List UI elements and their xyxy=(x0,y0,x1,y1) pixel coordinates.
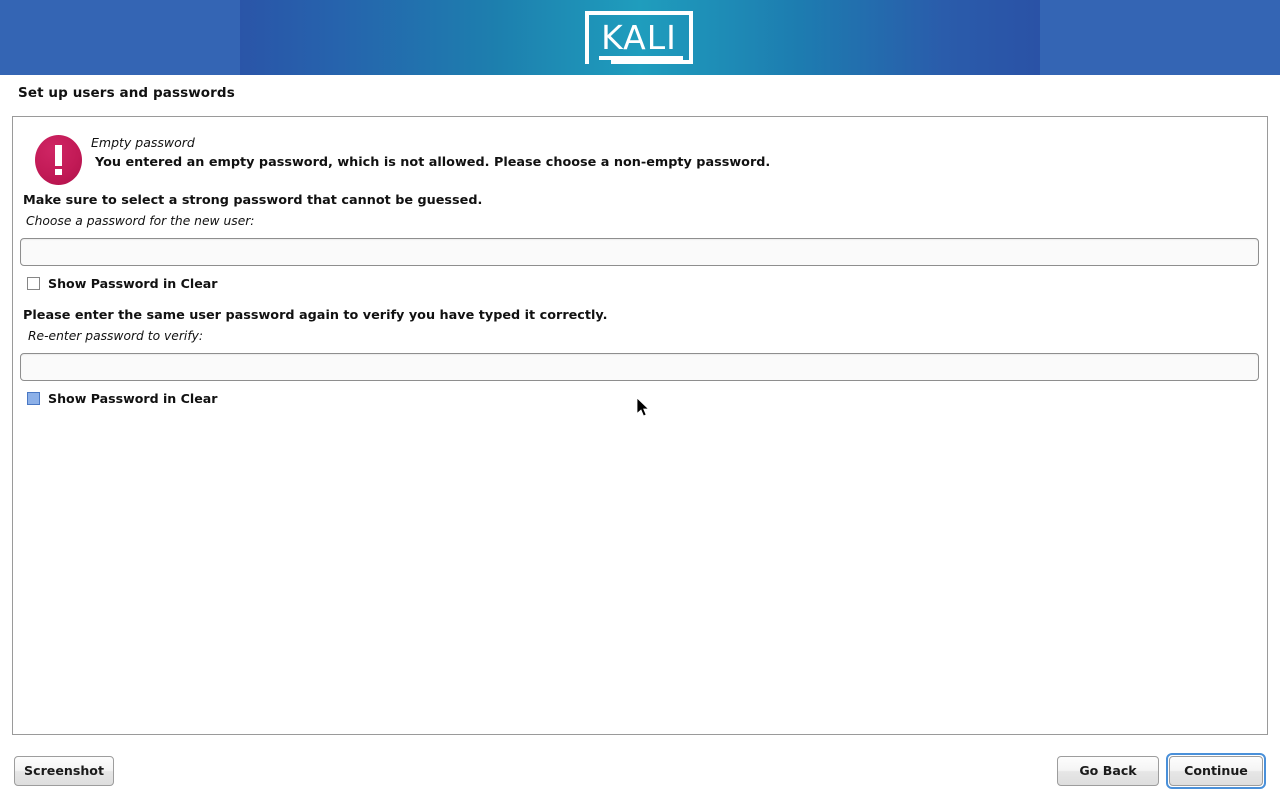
show-password-checkbox-2[interactable] xyxy=(27,392,40,405)
strong-password-note: Make sure to select a strong password th… xyxy=(23,193,482,208)
error-alert: Empty password You entered an empty pass… xyxy=(23,125,1253,191)
show-password-checkbox-1[interactable] xyxy=(27,277,40,290)
screenshot-button[interactable]: Screenshot xyxy=(14,756,114,786)
verify-password-label: Re-enter password to verify: xyxy=(28,329,203,343)
show-password-label-2: Show Password in Clear xyxy=(48,391,217,406)
continue-button[interactable]: Continue xyxy=(1169,756,1263,786)
password-label: Choose a password for the new user: xyxy=(26,214,254,228)
kali-logo: KALI xyxy=(583,9,695,66)
error-exclamation-icon xyxy=(35,135,82,185)
error-message: You entered an empty password, which is … xyxy=(95,155,770,170)
main-panel: Empty password You entered an empty pass… xyxy=(12,116,1268,735)
svg-text:KALI: KALI xyxy=(601,18,677,57)
show-password-label-1: Show Password in Clear xyxy=(48,276,217,291)
exclamation-dot xyxy=(55,169,62,175)
verify-password-note: Please enter the same user password agai… xyxy=(23,308,607,323)
go-back-button[interactable]: Go Back xyxy=(1057,756,1159,786)
password-input[interactable] xyxy=(20,238,1259,266)
kali-banner: KALI xyxy=(0,0,1280,75)
page-title: Set up users and passwords xyxy=(18,85,235,101)
exclamation-bar xyxy=(55,145,62,166)
continue-button-focus-ring: Continue xyxy=(1166,753,1266,789)
installer-screen: KALI Set up users and passwords Empty pa… xyxy=(0,0,1280,800)
verify-password-input[interactable] xyxy=(20,353,1259,381)
error-title: Empty password xyxy=(91,135,195,150)
